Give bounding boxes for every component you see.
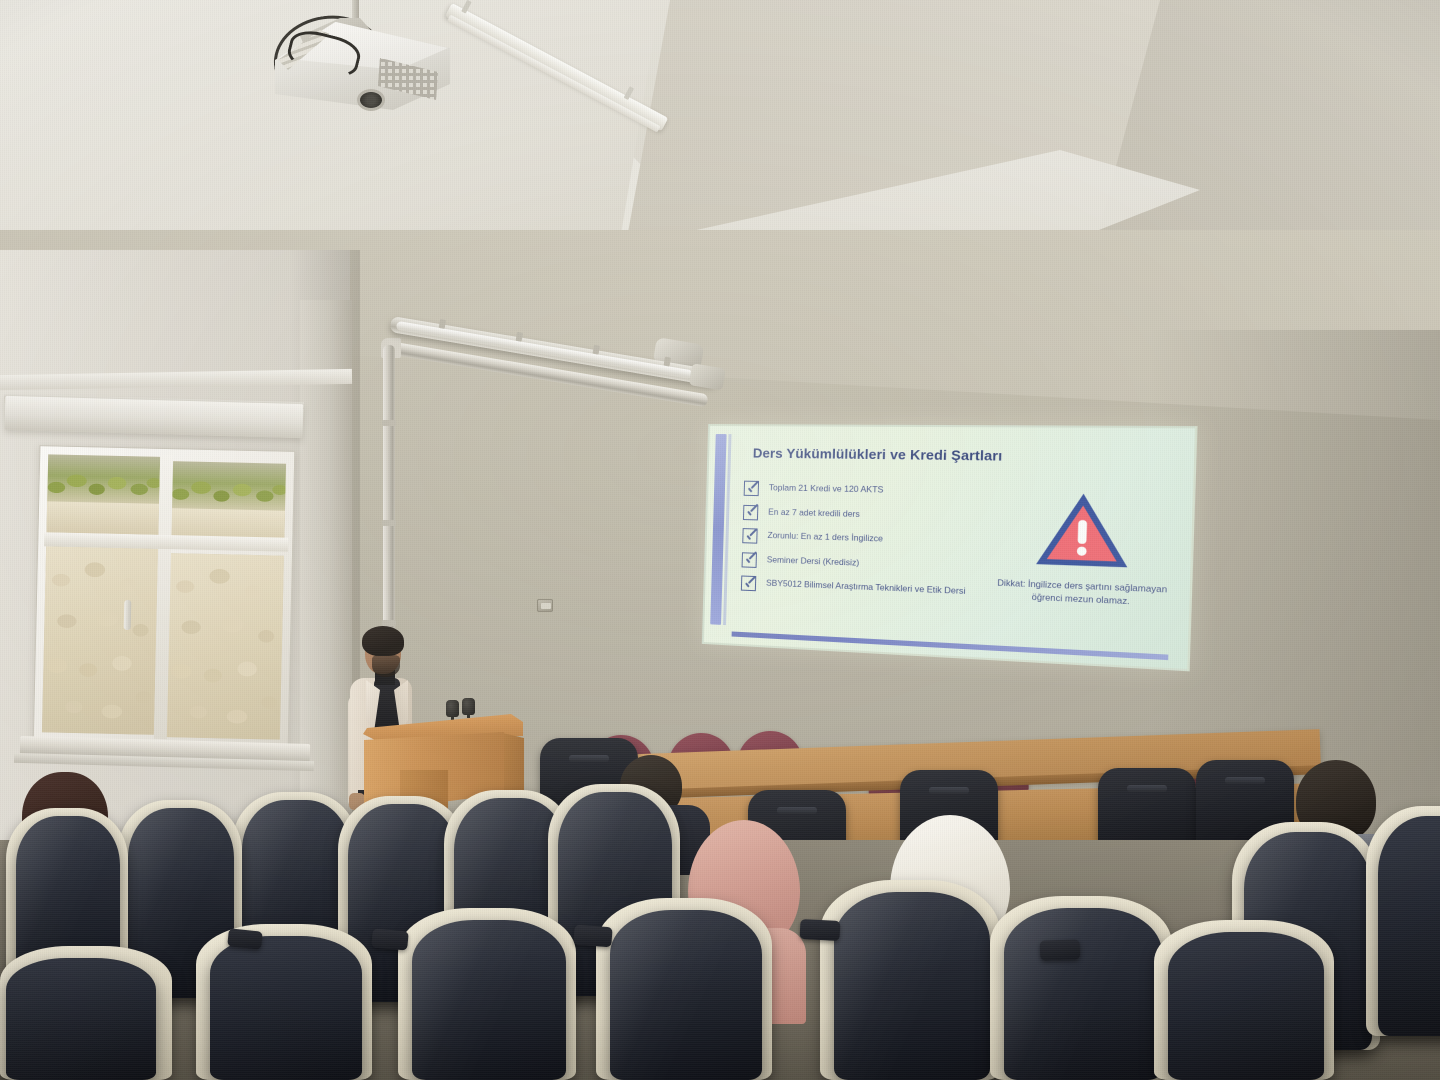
- slide-bullet-item: Zorunlu: En az 1 ders İngilizce: [742, 528, 1009, 552]
- slide-bullet-text: Toplam 21 Kredi ve 120 AKTS: [769, 481, 884, 495]
- exterior-window: [33, 445, 296, 751]
- window-pane-top-left: [46, 454, 160, 535]
- presenter-hair: [362, 626, 404, 656]
- auditorium-seat[interactable]: [834, 892, 990, 1080]
- checkbox-checked-icon: [742, 528, 757, 544]
- seat-armrest: [1040, 939, 1081, 960]
- slide-bullet-list: Toplam 21 Kredi ve 120 AKTS En az 7 adet…: [741, 481, 1011, 612]
- auditorium-seat[interactable]: [610, 910, 762, 1080]
- slide-bullet-item: Seminer Dersi (Kredisiz): [742, 552, 1009, 577]
- auditorium-seat[interactable]: [1378, 816, 1440, 1036]
- projector-lens-icon: [360, 92, 382, 108]
- window-handle[interactable]: [124, 600, 132, 630]
- checkbox-checked-icon: [743, 504, 758, 520]
- auditorium-seat[interactable]: [1168, 932, 1324, 1080]
- conduit-bracket: [382, 420, 396, 426]
- auditorium-seat[interactable]: [210, 936, 362, 1080]
- checkbox-checked-icon: [744, 481, 759, 496]
- slide-bullet-item: Toplam 21 Kredi ve 120 AKTS: [744, 481, 1011, 502]
- slide-bullet-text: SBY5012 Bilimsel Araştırma Teknikleri ve…: [766, 576, 966, 596]
- slide-bullet-text: Zorunlu: En az 1 ders İngilizce: [767, 529, 883, 544]
- seat-armrest: [371, 928, 409, 950]
- slide-bullet-text: En az 7 adet kredili ders: [768, 505, 860, 519]
- window-pane-top-right: [170, 461, 286, 542]
- checkbox-checked-icon: [742, 552, 757, 568]
- seat-armrest: [800, 919, 841, 941]
- slide-surface: Ders Yükümlülükleri ve Kredi Şartları To…: [702, 424, 1198, 671]
- slide-warning-text: Dikkat: İngilizce ders şartını sağlamaya…: [996, 577, 1168, 609]
- seat-armrest: [227, 928, 263, 949]
- checkbox-checked-icon: [741, 575, 756, 591]
- auditorium-seat[interactable]: [412, 920, 566, 1080]
- window-pane-bottom-right: [166, 553, 284, 740]
- slide-title: Ders Yükümlülükleri ve Kredi Şartları: [753, 445, 1168, 466]
- warning-triangle-icon: [1033, 490, 1133, 571]
- light-switch-plate[interactable]: [537, 599, 553, 612]
- slide-bullet-item: En az 7 adet kredili ders: [743, 504, 1010, 526]
- seminar-room-photo: Ders Yükümlülükleri ve Kredi Şartları To…: [0, 0, 1440, 1080]
- auditorium-seat[interactable]: [1004, 908, 1162, 1080]
- slide-bullet-text: Seminer Dersi (Kredisiz): [767, 553, 860, 568]
- auditorium-seat[interactable]: [6, 958, 156, 1080]
- presenter-beard: [372, 655, 400, 677]
- window-pane-bottom-left: [42, 546, 158, 734]
- seat-armrest: [573, 925, 612, 948]
- slide-warning-block: Dikkat: İngilizce ders şartını sağlamaya…: [996, 489, 1171, 609]
- microphone-base-left: [446, 700, 459, 717]
- conduit-bracket: [382, 520, 396, 526]
- projected-slide: Ders Yükümlülükleri ve Kredi Şartları To…: [702, 424, 1198, 671]
- microphone-base-right: [462, 698, 475, 715]
- slide-bullet-item: SBY5012 Bilimsel Araştırma Teknikleri ve…: [741, 575, 1008, 602]
